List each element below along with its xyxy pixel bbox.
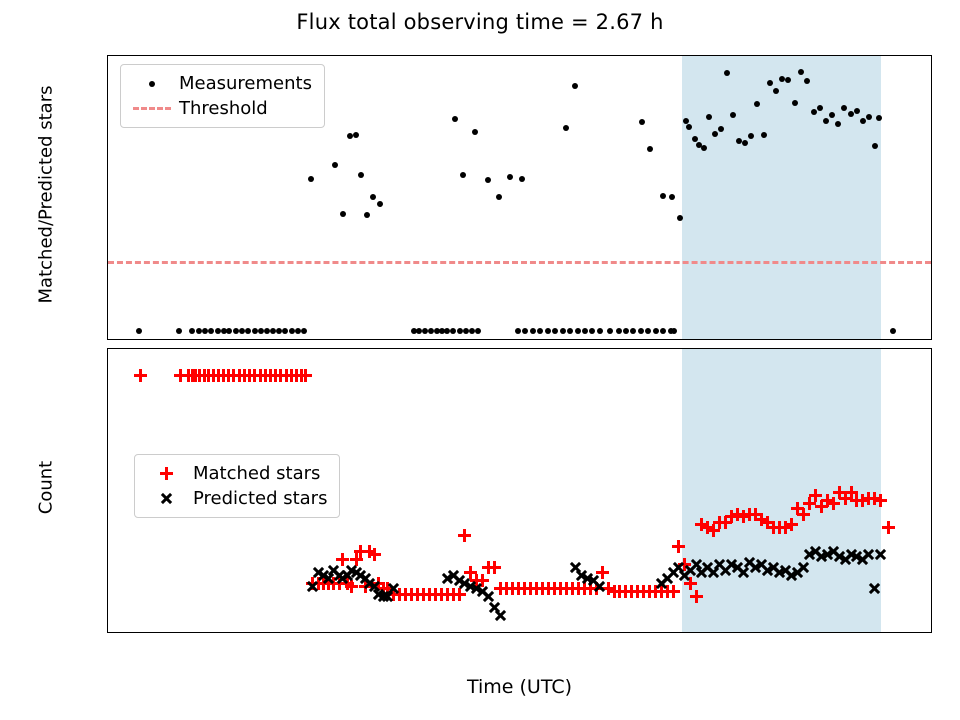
ratio-panel-axes: 0.00.51.01.5 Measurements Threshold (107, 55, 932, 340)
x-axis-label: Time (UTC) (107, 676, 932, 698)
data-point (829, 112, 835, 118)
x-axis-tick (894, 339, 895, 340)
y-axis-tick (107, 190, 108, 191)
data-point (767, 80, 773, 86)
data-point (860, 118, 866, 124)
x-axis-tick (298, 632, 299, 633)
legend-entry-threshold: Threshold (129, 96, 312, 121)
data-point (582, 328, 588, 334)
data-point (630, 328, 636, 334)
data-point (545, 328, 551, 334)
data-point (660, 193, 666, 199)
data-point (669, 194, 675, 200)
threshold-line (108, 261, 931, 264)
data-point (874, 494, 887, 507)
data-point (671, 328, 677, 334)
x-axis-tick (447, 339, 448, 340)
data-point (416, 328, 422, 334)
data-point (475, 328, 481, 334)
data-point (817, 105, 823, 111)
x-axis-tick (894, 632, 895, 633)
data-point (507, 174, 513, 180)
data-point (282, 328, 288, 334)
data-point (597, 328, 603, 334)
data-point (552, 328, 558, 334)
y-axis-tick (107, 434, 108, 435)
data-point (364, 212, 370, 218)
data-point (876, 115, 882, 121)
data-point (515, 328, 521, 334)
ratio-panel-ylabel: Matched/Predicted stars (36, 80, 57, 310)
data-point (332, 162, 338, 168)
data-point (226, 328, 232, 334)
data-point (208, 328, 214, 334)
y-axis-tick (107, 381, 108, 382)
data-point (660, 328, 666, 334)
count-panel-axes: 2040608010019:0020:0021:0022:0023:0000:0… (107, 348, 932, 633)
data-point (672, 540, 685, 553)
data-point (428, 328, 434, 334)
x-axis-tick (820, 339, 821, 340)
x-axis-tick (224, 339, 225, 340)
data-point (537, 328, 543, 334)
count-panel-ylabel: Count (36, 428, 57, 548)
data-point (701, 145, 707, 151)
data-point (797, 561, 810, 574)
data-point (692, 136, 698, 142)
data-point (854, 108, 860, 114)
data-point (353, 132, 359, 138)
data-point (645, 328, 651, 334)
dot-marker-icon (129, 81, 175, 87)
data-point (560, 328, 566, 334)
legend-entry-matched-stars: Matched stars (143, 461, 327, 486)
data-point (387, 582, 400, 595)
data-point (798, 69, 804, 75)
data-point (589, 328, 595, 334)
data-point (496, 194, 502, 200)
data-point (639, 119, 645, 125)
data-point (485, 177, 491, 183)
data-point (690, 590, 703, 603)
x-axis-tick (671, 339, 672, 340)
data-point (358, 172, 364, 178)
data-point (189, 328, 195, 334)
data-point (450, 328, 456, 334)
data-point (823, 118, 829, 124)
y-axis-tick (107, 594, 108, 595)
x-axis-tick (149, 339, 150, 340)
x-axis-tick (745, 339, 746, 340)
cross-marker-icon (143, 492, 189, 505)
data-point (202, 328, 208, 334)
x-axis-tick (596, 632, 597, 633)
legend-label-threshold: Threshold (175, 98, 268, 119)
data-point (647, 146, 653, 152)
ratio-panel-legend: Measurements Threshold (120, 64, 325, 128)
data-point (252, 328, 258, 334)
data-point (616, 328, 622, 334)
data-point (653, 328, 659, 334)
data-point (792, 100, 798, 106)
data-point (607, 328, 613, 334)
data-point (638, 328, 644, 334)
data-point (563, 125, 569, 131)
data-point (196, 328, 202, 334)
data-point (215, 328, 221, 334)
figure-title: Flux total observing time = 2.67 h (0, 10, 960, 34)
y-axis-tick (107, 261, 108, 262)
data-point (370, 194, 376, 200)
data-point (890, 328, 896, 334)
data-point (176, 328, 182, 334)
data-point (519, 176, 525, 182)
x-axis-tick (373, 339, 374, 340)
data-point (264, 328, 270, 334)
data-point (469, 328, 475, 334)
data-point (308, 176, 314, 182)
data-point (522, 328, 528, 334)
data-point (683, 118, 689, 124)
y-axis-tick (107, 488, 108, 489)
legend-entry-predicted-stars: Predicted stars (143, 486, 327, 511)
shaded-observing-window (682, 56, 881, 339)
data-point (730, 112, 736, 118)
data-point (463, 328, 469, 334)
legend-label-predicted-stars: Predicted stars (189, 488, 327, 509)
data-point (494, 609, 507, 622)
x-axis-tick (596, 339, 597, 340)
y-axis-tick (107, 541, 108, 542)
data-point (134, 369, 147, 382)
data-point (377, 201, 383, 207)
x-axis-tick (224, 632, 225, 633)
data-point (458, 529, 471, 542)
data-point (868, 582, 881, 595)
x-axis-tick (745, 632, 746, 633)
data-point (530, 328, 536, 334)
data-point (452, 116, 458, 122)
x-axis-tick (522, 339, 523, 340)
y-axis-tick (107, 331, 108, 332)
data-point (882, 521, 895, 534)
data-point (460, 172, 466, 178)
x-axis-tick (820, 632, 821, 633)
data-point (575, 328, 581, 334)
data-point (422, 328, 428, 334)
data-point (677, 215, 683, 221)
data-point (761, 132, 767, 138)
data-point (488, 561, 501, 574)
data-point (572, 83, 578, 89)
data-point (623, 328, 629, 334)
plus-marker-icon (143, 467, 189, 480)
data-point (724, 70, 730, 76)
x-axis-tick (149, 632, 150, 633)
legend-label-matched-stars: Matched stars (189, 463, 320, 484)
data-point (874, 548, 887, 561)
count-panel-legend: Matched stars Predicted stars (134, 454, 340, 518)
data-point (567, 328, 573, 334)
y-axis-tick (107, 119, 108, 120)
dashed-line-icon (129, 107, 175, 110)
data-point (457, 328, 463, 334)
data-point (299, 369, 312, 382)
figure-canvas: Flux total observing time = 2.67 h 0.00.… (0, 0, 960, 720)
legend-entry-measurements: Measurements (129, 71, 312, 96)
data-point (593, 580, 606, 593)
data-point (136, 328, 142, 334)
data-point (258, 328, 264, 334)
data-point (245, 328, 251, 334)
data-point (340, 211, 346, 217)
x-axis-tick (447, 632, 448, 633)
data-point (368, 548, 381, 561)
data-point (866, 114, 872, 120)
data-point (667, 585, 680, 598)
data-point (712, 131, 718, 137)
x-axis-tick (373, 632, 374, 633)
data-point (686, 124, 692, 130)
x-axis-tick (298, 339, 299, 340)
legend-label-measurements: Measurements (175, 73, 312, 94)
x-axis-tick (671, 632, 672, 633)
x-axis-tick (522, 632, 523, 633)
data-point (472, 129, 478, 135)
data-point (301, 328, 307, 334)
